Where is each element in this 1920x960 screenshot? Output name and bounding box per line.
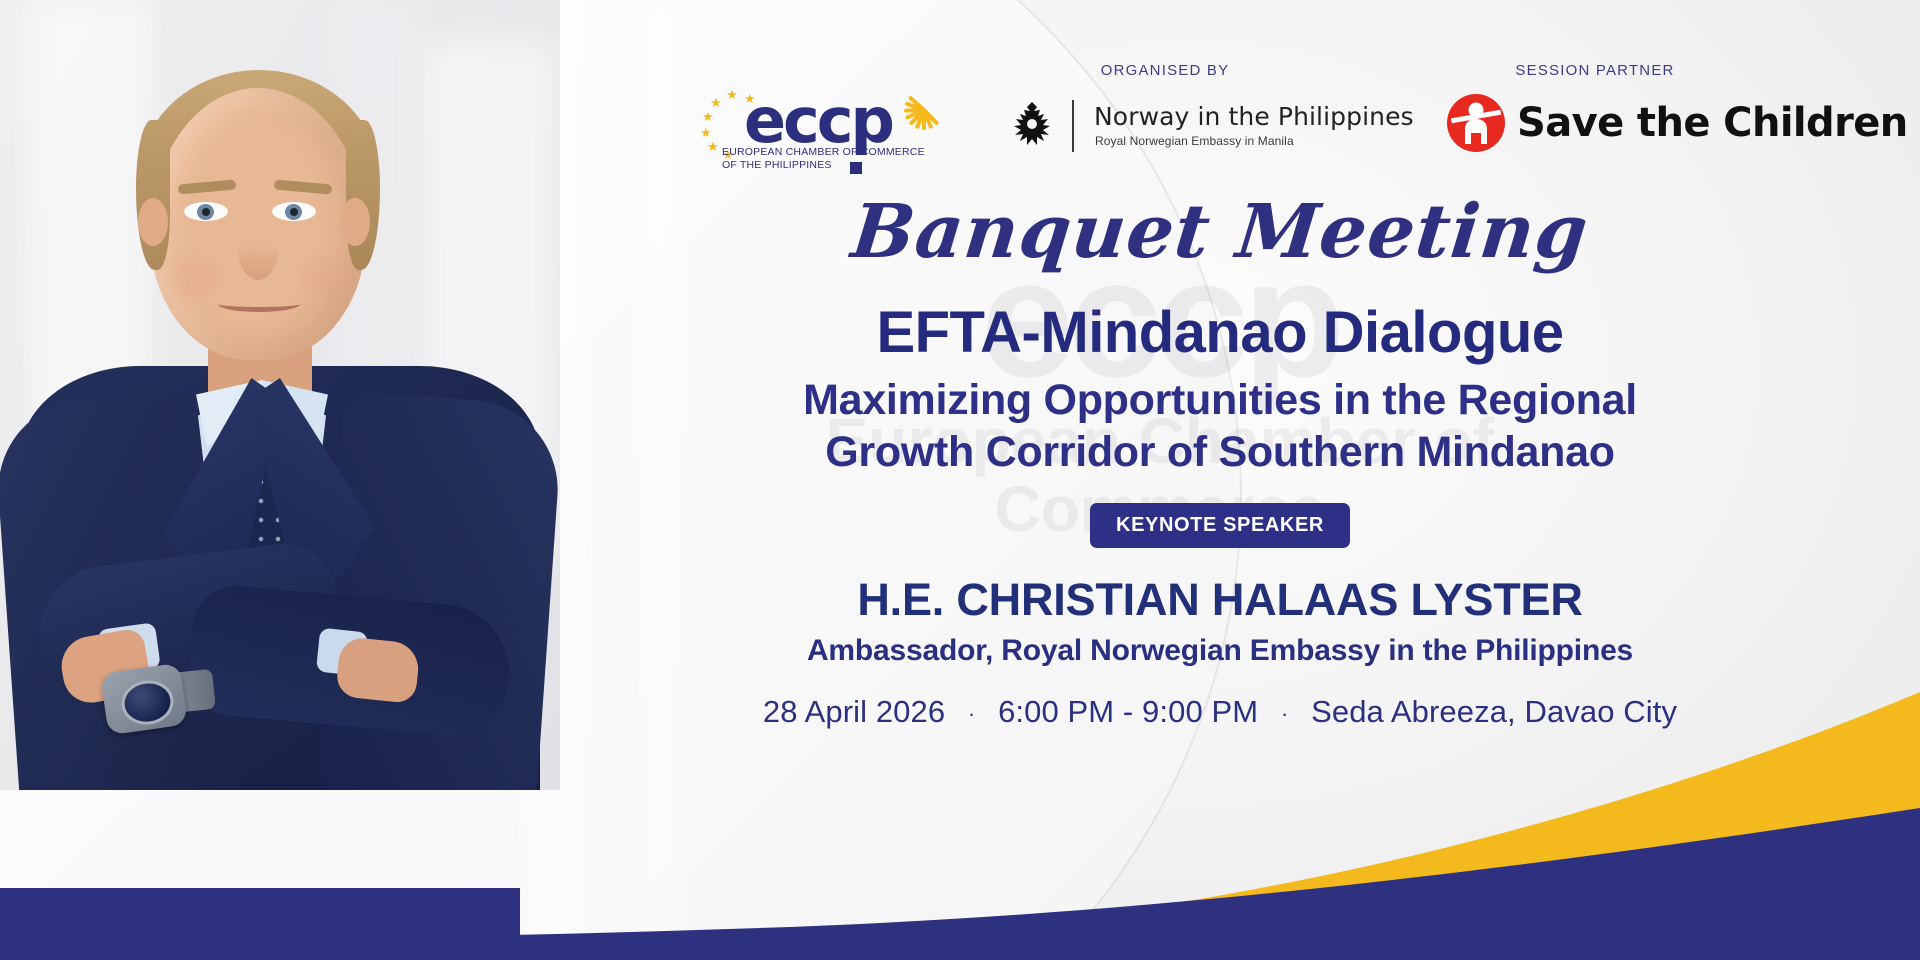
- eccp-tagline-line1: EUROPEAN CHAMBER OF COMMERCE: [722, 146, 925, 159]
- navy-left-block: [0, 888, 520, 960]
- iris-left: [197, 204, 214, 220]
- partner-logo-row: ★ ★ ★ ★ ★ ★ ★ eccp: [700, 70, 1780, 190]
- speaker-role: Ambassador, Royal Norwegian Embassy in t…: [620, 634, 1820, 668]
- event-banner: eccp European Chamber of Commerce: [0, 0, 1920, 960]
- cheek-right: [300, 258, 348, 298]
- cheek-left: [172, 258, 220, 298]
- organised-by-label: ORGANISED BY: [1010, 62, 1320, 79]
- session-partner-label: SESSION PARTNER: [1445, 62, 1745, 79]
- event-meta: 28 April 2026 · 6:00 PM - 9:00 PM · Seda…: [620, 694, 1820, 730]
- event-time: 6:00 PM - 9:00 PM: [998, 694, 1258, 729]
- eye-left: [184, 202, 228, 221]
- keynote-speaker-badge: KEYNOTE SPEAKER: [1090, 503, 1350, 548]
- event-subtitle-line2: Growth Corridor of Southern Mindanao: [620, 426, 1820, 478]
- mouth: [218, 296, 300, 312]
- event-main-title: EFTA-Mindanao Dialogue: [620, 303, 1820, 364]
- organised-by-label-wrap: ORGANISED BY: [1010, 62, 1320, 79]
- eccp-square-icon: [850, 162, 862, 174]
- norway-divider: [1072, 100, 1074, 152]
- eccp-tagline-line2: OF THE PHILIPPINES: [722, 159, 925, 172]
- eccp-logo-mark: ★ ★ ★ ★ ★ ★ ★ eccp: [700, 90, 940, 150]
- ear-left: [138, 198, 168, 246]
- philippine-sun-icon: [898, 84, 952, 134]
- keynote-badge-wrap: KEYNOTE SPEAKER: [620, 479, 1820, 548]
- eye-right: [272, 202, 316, 221]
- save-the-children-wordmark: Save the Children: [1517, 100, 1908, 146]
- meta-separator: ·: [1267, 701, 1302, 727]
- ear-right: [340, 198, 370, 246]
- norway-name: Norway in the Philippines: [1094, 102, 1414, 131]
- hair-side-left: [136, 120, 170, 270]
- event-subtitle: Maximizing Opportunities in the Regional…: [620, 374, 1820, 479]
- meta-separator: ·: [954, 701, 989, 727]
- event-date: 28 April 2026: [763, 694, 945, 729]
- nose: [238, 218, 278, 280]
- iris-right: [285, 204, 302, 220]
- eccp-logo: ★ ★ ★ ★ ★ ★ ★ eccp: [700, 90, 940, 150]
- event-venue: Seda Abreeza, Davao City: [1311, 694, 1677, 729]
- norway-subtitle: Royal Norwegian Embassy in Manila: [1095, 134, 1294, 148]
- event-subtitle-line1: Maximizing Opportunities in the Regional: [620, 374, 1820, 426]
- norway-lion-crest-icon: [1010, 100, 1054, 154]
- speaker-name: H.E. CHRISTIAN HALAAS LYSTER: [620, 574, 1820, 626]
- save-the-children-figure-icon: [1445, 92, 1507, 154]
- event-content: Banquet Meeting EFTA-Mindanao Dialogue M…: [620, 195, 1820, 730]
- session-partner-label-wrap: SESSION PARTNER: [1445, 62, 1745, 79]
- eccp-tagline: EUROPEAN CHAMBER OF COMMERCE OF THE PHIL…: [722, 146, 925, 172]
- banquet-meeting-title: Banquet Meeting: [616, 195, 1824, 269]
